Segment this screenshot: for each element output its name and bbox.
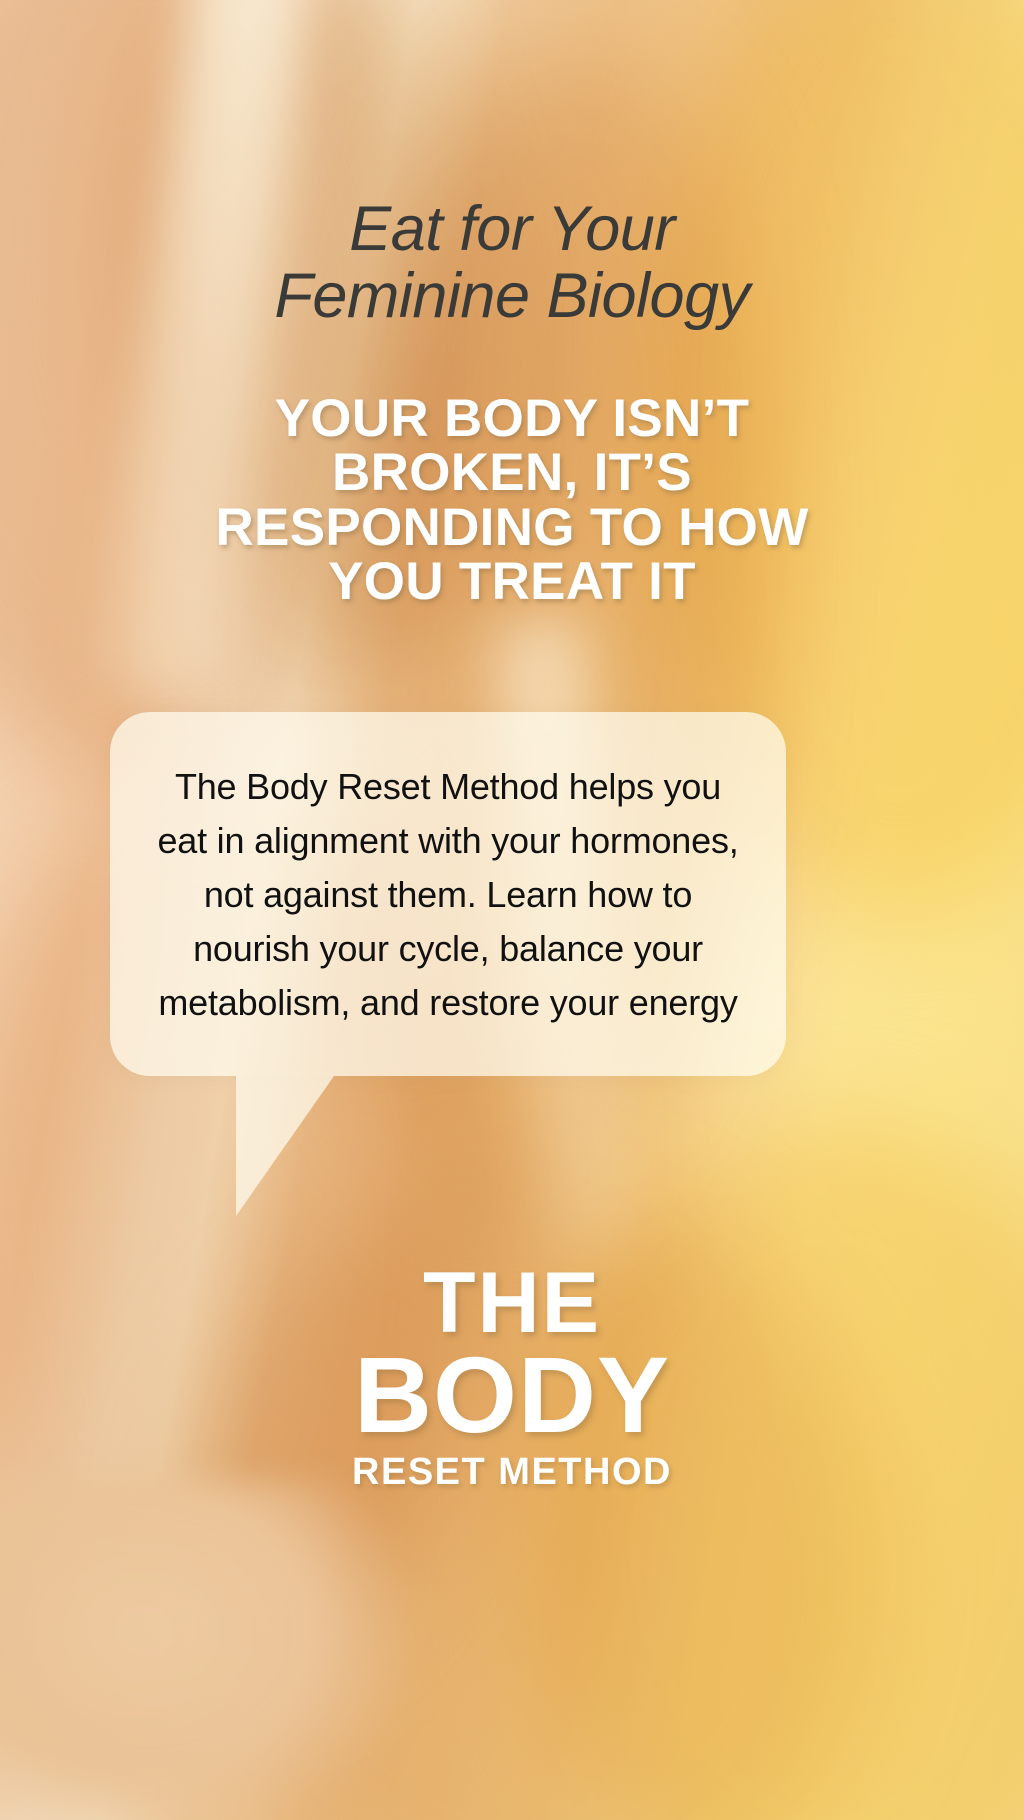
- brand-logo-line-1: THE: [0, 1262, 1024, 1345]
- speech-bubble-text: The Body Reset Method helps you eat in a…: [154, 760, 742, 1030]
- speech-bubble-tail-icon: [236, 1076, 334, 1216]
- subheadline: YOUR BODY ISN’T BROKEN, IT’S RESPONDING …: [192, 392, 832, 610]
- brand-logo-line-3: RESET METHOD: [0, 1451, 1024, 1494]
- speech-bubble: The Body Reset Method helps you eat in a…: [110, 712, 786, 1076]
- script-headline-line-2: Feminine Biology: [132, 263, 892, 330]
- script-headline-line-1: Eat for Your: [349, 194, 675, 264]
- poster-canvas: Eat for Your Feminine Biology YOUR BODY …: [0, 0, 1024, 1820]
- brand-logo: THE BODY RESET METHOD: [0, 1262, 1024, 1494]
- brand-logo-line-2: BODY: [0, 1345, 1024, 1445]
- speech-bubble-body: The Body Reset Method helps you eat in a…: [110, 712, 786, 1076]
- script-headline: Eat for Your Feminine Biology: [132, 196, 892, 330]
